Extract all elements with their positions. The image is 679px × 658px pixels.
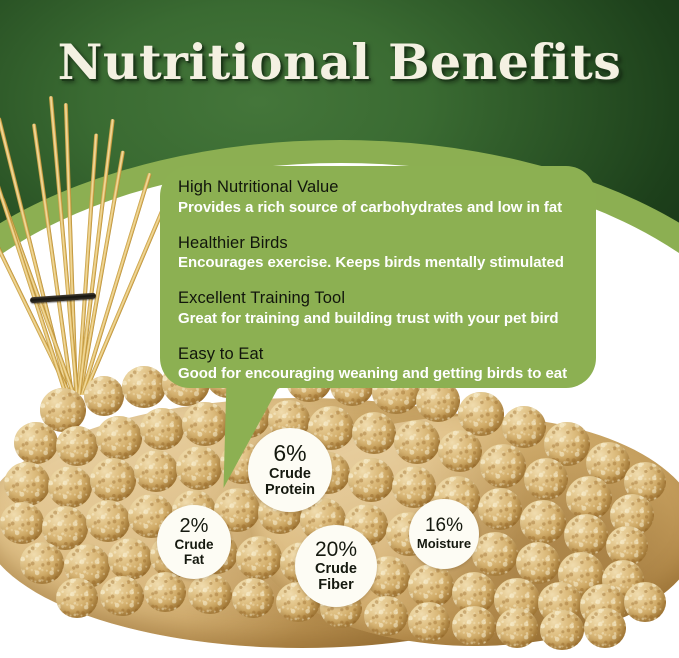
millet-cluster (140, 408, 184, 450)
millet-cluster (502, 406, 546, 448)
millet-cluster (394, 420, 440, 464)
badge-label-line1: Crude (315, 561, 357, 577)
millet-cluster (84, 376, 124, 416)
millet-cluster (108, 538, 152, 580)
millet-cluster (438, 430, 482, 472)
badge-label: Crude Fat (174, 538, 213, 567)
nutritional-benefits-infographic: Nutritional Benefits (0, 0, 679, 658)
badge-percent: 6% (273, 442, 306, 465)
benefit-description: Great for training and building trust wi… (178, 310, 582, 329)
list-item: Excellent Training Tool Great for traini… (178, 289, 582, 329)
badge-label-line1: Moisture (417, 536, 471, 551)
millet-cluster (236, 536, 282, 580)
list-item: Healthier Birds Encourages exercise. Kee… (178, 234, 582, 274)
badge-label-line2: Fat (184, 552, 204, 567)
badge-label: Crude Fiber (315, 562, 357, 593)
millet-cluster (584, 608, 626, 648)
badge-label-line1: Crude (269, 466, 311, 482)
status-badge-crude-fat: 2% Crude Fat (157, 505, 231, 579)
millet-cluster (0, 502, 44, 544)
badge-percent: 2% (180, 516, 209, 536)
millet-cluster (134, 450, 178, 492)
list-item: High Nutritional Value Provides a rich s… (178, 178, 582, 218)
millet-cluster (540, 610, 584, 650)
badge-percent: 20% (315, 539, 357, 560)
status-badge-crude-protein: 6% Crude Protein (248, 428, 332, 512)
millet-cluster (472, 532, 518, 576)
millet-cluster (348, 458, 394, 502)
millet-cluster (452, 606, 496, 646)
millet-cluster (408, 602, 450, 642)
millet-cluster (458, 392, 504, 436)
millet-cluster (56, 426, 98, 466)
badge-label: Moisture (417, 537, 471, 551)
status-badge-moisture: 16% Moisture (409, 499, 479, 569)
list-item: Easy to Eat Good for encouraging weaning… (178, 345, 582, 385)
millet-cluster (520, 500, 566, 544)
badge-percent: 16% (425, 516, 463, 535)
benefits-list: High Nutritional Value Provides a rich s… (178, 178, 582, 384)
badge-label-line2: Protein (265, 482, 315, 498)
millet-cluster (188, 574, 232, 614)
millet-cluster (4, 462, 50, 506)
millet-cluster (496, 608, 538, 648)
millet-cluster (480, 444, 526, 488)
millet-cluster (100, 576, 144, 616)
benefit-title: Healthier Birds (178, 234, 582, 254)
millet-cluster (86, 500, 130, 542)
millet-cluster (364, 596, 408, 636)
badge-label-line2: Fiber (318, 577, 353, 593)
millet-cluster (624, 582, 666, 622)
millet-cluster (564, 514, 608, 556)
millet-cluster (144, 572, 186, 612)
millet-cluster (122, 366, 166, 408)
millet-cluster (48, 466, 92, 508)
millet-cluster (96, 416, 142, 460)
millet-cluster (20, 542, 64, 584)
badge-label-line1: Crude (174, 537, 213, 552)
millet-cluster (56, 578, 98, 618)
millet-cluster (524, 458, 568, 500)
benefit-title: High Nutritional Value (178, 178, 582, 198)
millet-cluster (14, 422, 58, 464)
benefit-title: Easy to Eat (178, 345, 582, 365)
benefit-description: Good for encouraging weaning and getting… (178, 365, 582, 384)
page-title: Nutritional Benefits (0, 33, 679, 91)
benefit-title: Excellent Training Tool (178, 289, 582, 309)
benefit-description: Provides a rich source of carbohydrates … (178, 199, 582, 218)
millet-cluster (478, 488, 522, 530)
millet-cluster (90, 458, 136, 502)
status-badge-crude-fiber: 20% Crude Fiber (295, 525, 377, 607)
benefit-description: Encourages exercise. Keeps birds mentall… (178, 254, 582, 273)
millet-cluster (352, 412, 396, 454)
badge-label: Crude Protein (265, 467, 315, 498)
millet-cluster (232, 578, 274, 618)
